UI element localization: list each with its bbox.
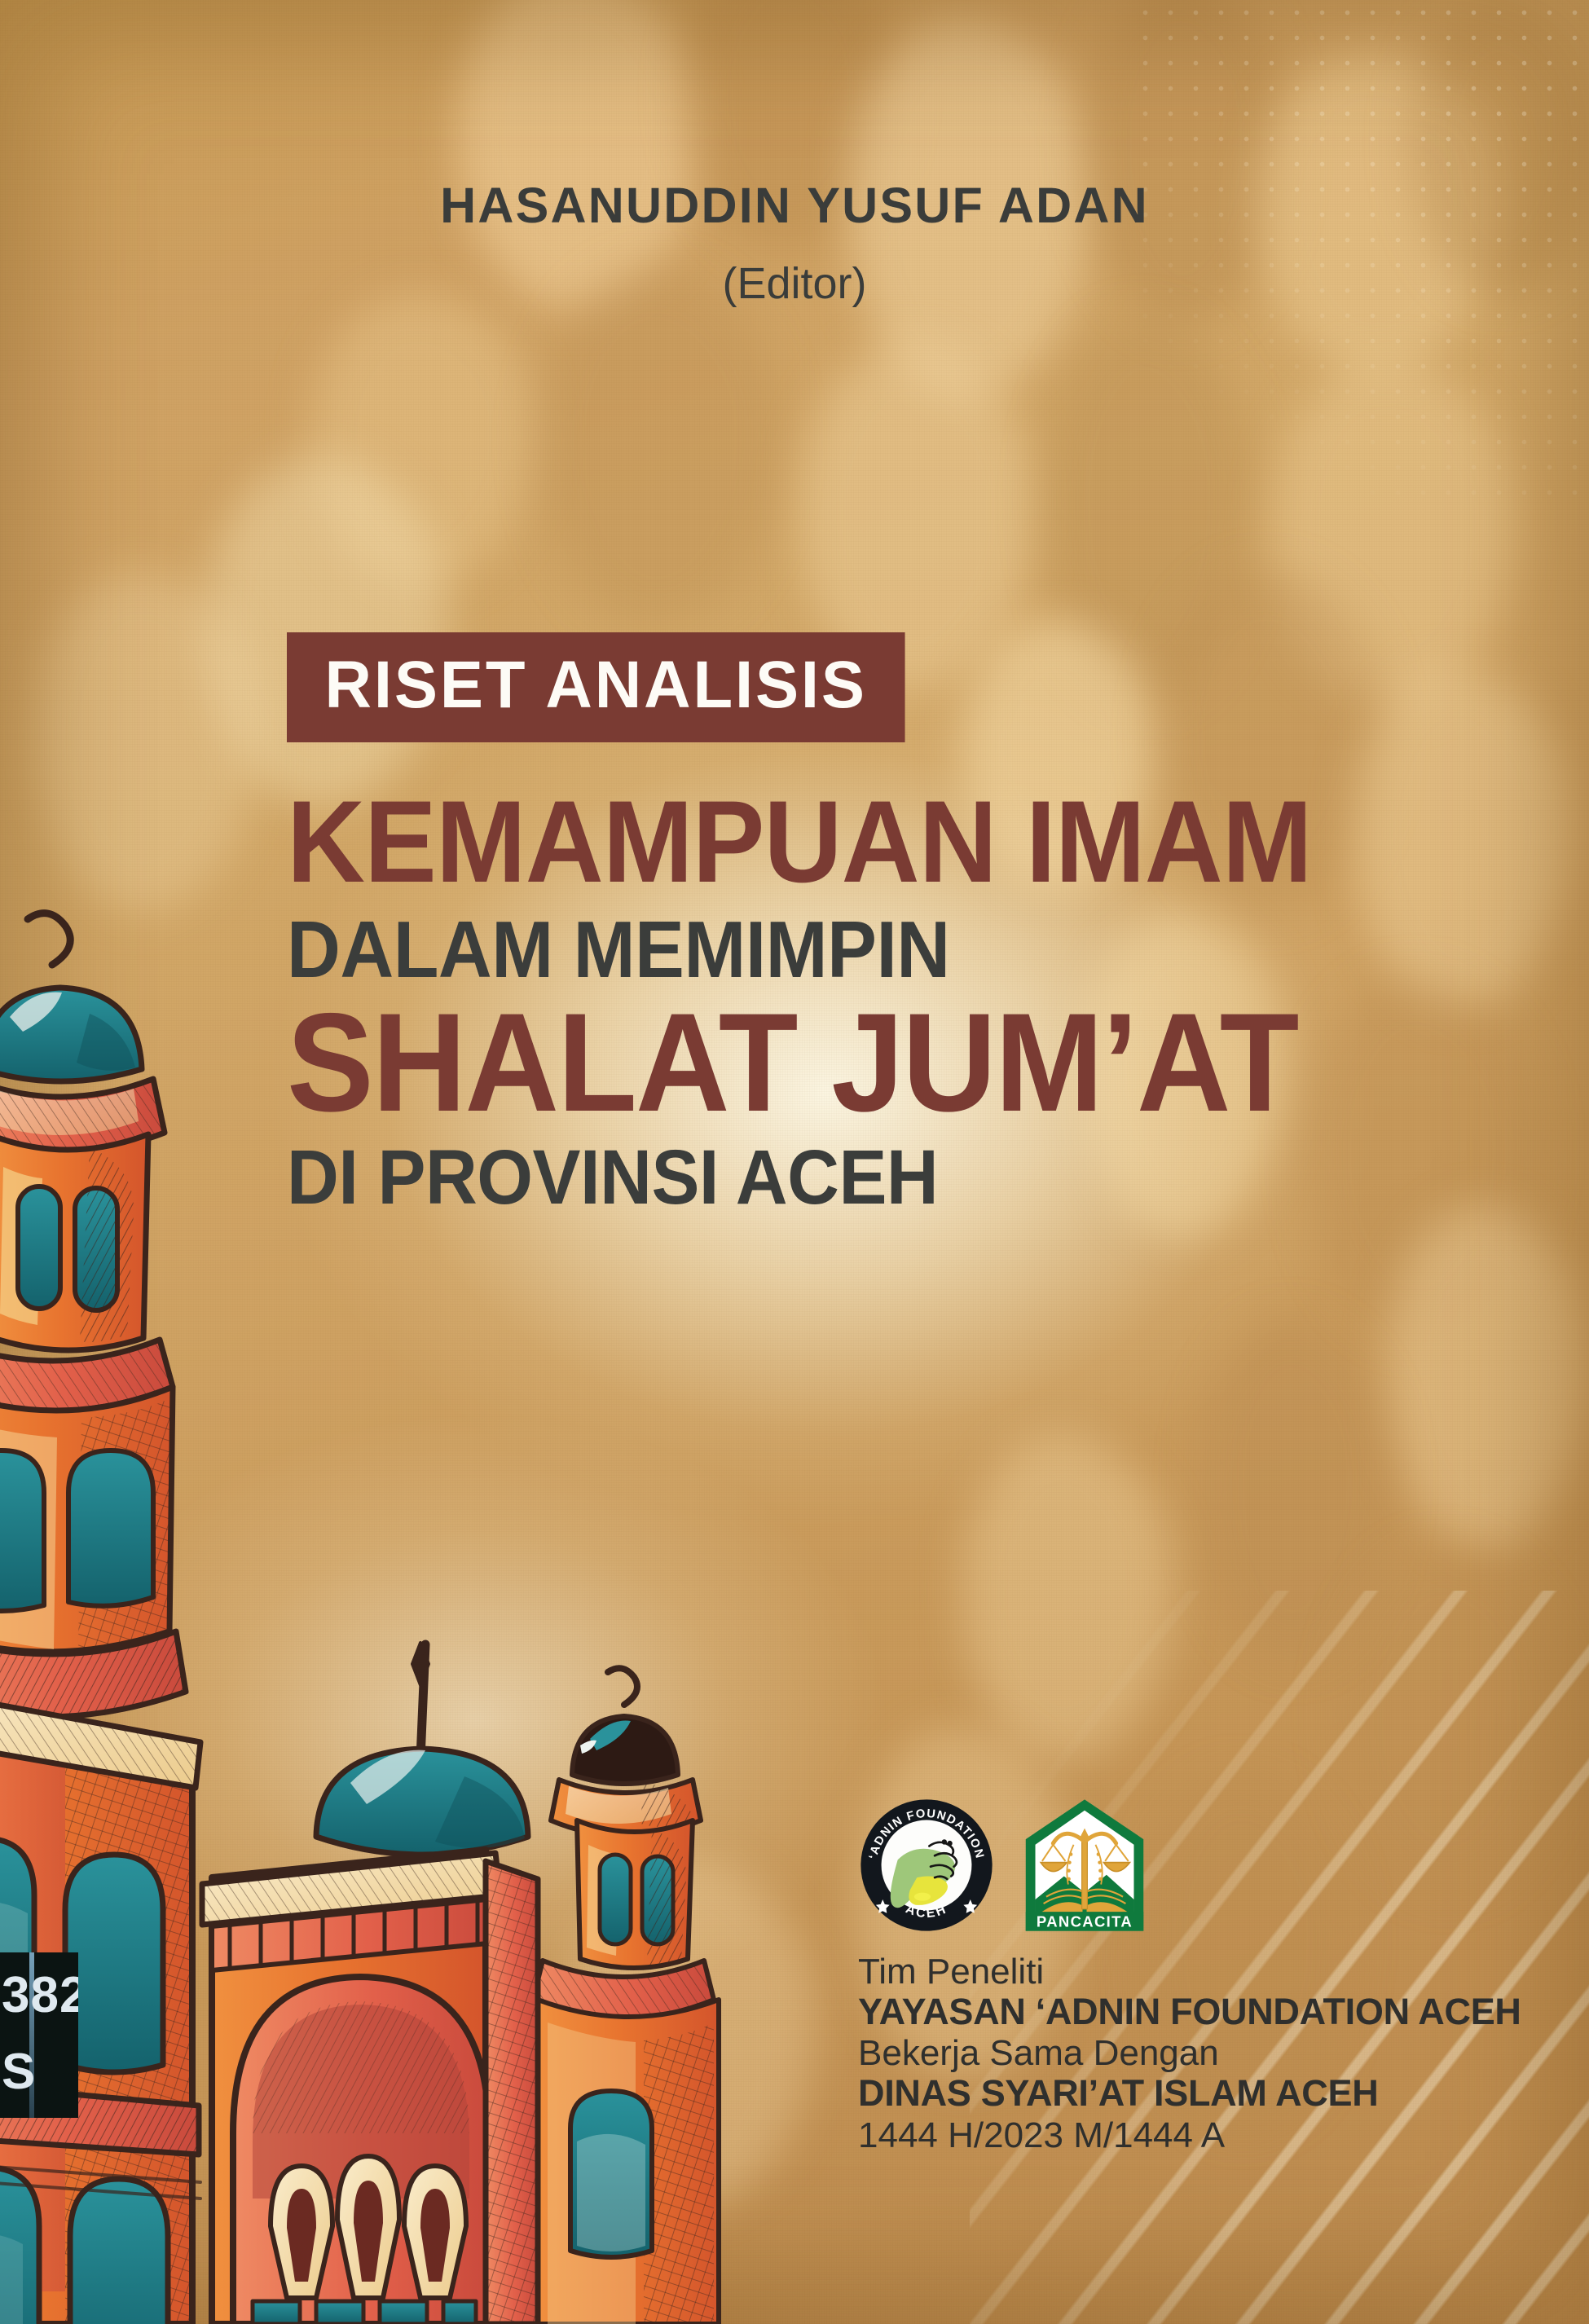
- partner-name: DINAS SYARI’AT ISLAM ACEH: [858, 2073, 1477, 2114]
- svg-text:PANCACITA: PANCACITA: [1037, 1913, 1133, 1930]
- book-cover: HASANUDDIN YUSUF ADAN (Editor) RISET ANA…: [0, 0, 1589, 2324]
- pancacita-logo: PANCACITA: [1016, 1797, 1153, 1934]
- team-label: Tim Peneliti: [858, 1952, 1477, 1992]
- title-line-3: SHALAT JUM’AT: [287, 1004, 1302, 1121]
- title-banner: RISET ANALISIS: [287, 632, 905, 742]
- sticker-line-2: S: [2, 2047, 36, 2097]
- isbn-sticker: 382 S: [0, 1952, 78, 2118]
- title-line-1: KEMAMPUAN IMAM: [287, 794, 1302, 891]
- sticker-line-1: 382: [2, 1970, 78, 2021]
- title-line-4: DI PROVINSI ACEH: [287, 1146, 1302, 1211]
- logo-row: ‘ADNIN FOUNDATION ACEH: [858, 1797, 1477, 1934]
- collaboration-label: Bekerja Sama Dengan: [858, 2033, 1477, 2073]
- publication-year: 1444 H/2023 M/1444 A: [858, 2115, 1477, 2155]
- title-stack: RISET ANALISIS KEMAMPUAN IMAM DALAM MEMI…: [287, 632, 1379, 1211]
- title-line-2: DALAM MEMIMPIN: [287, 916, 1302, 983]
- publisher-lines: Tim Peneliti YAYASAN ‘ADNIN FOUNDATION A…: [858, 1952, 1477, 2156]
- author-role: (Editor): [0, 262, 1589, 306]
- publisher-block: ‘ADNIN FOUNDATION ACEH: [858, 1797, 1477, 2156]
- author-name: HASANUDDIN YUSUF ADAN: [0, 181, 1589, 231]
- adnin-foundation-logo: ‘ADNIN FOUNDATION ACEH: [858, 1797, 995, 1934]
- author-block: HASANUDDIN YUSUF ADAN (Editor): [0, 181, 1589, 306]
- organization-name: YAYASAN ‘ADNIN FOUNDATION ACEH: [858, 1992, 1477, 2032]
